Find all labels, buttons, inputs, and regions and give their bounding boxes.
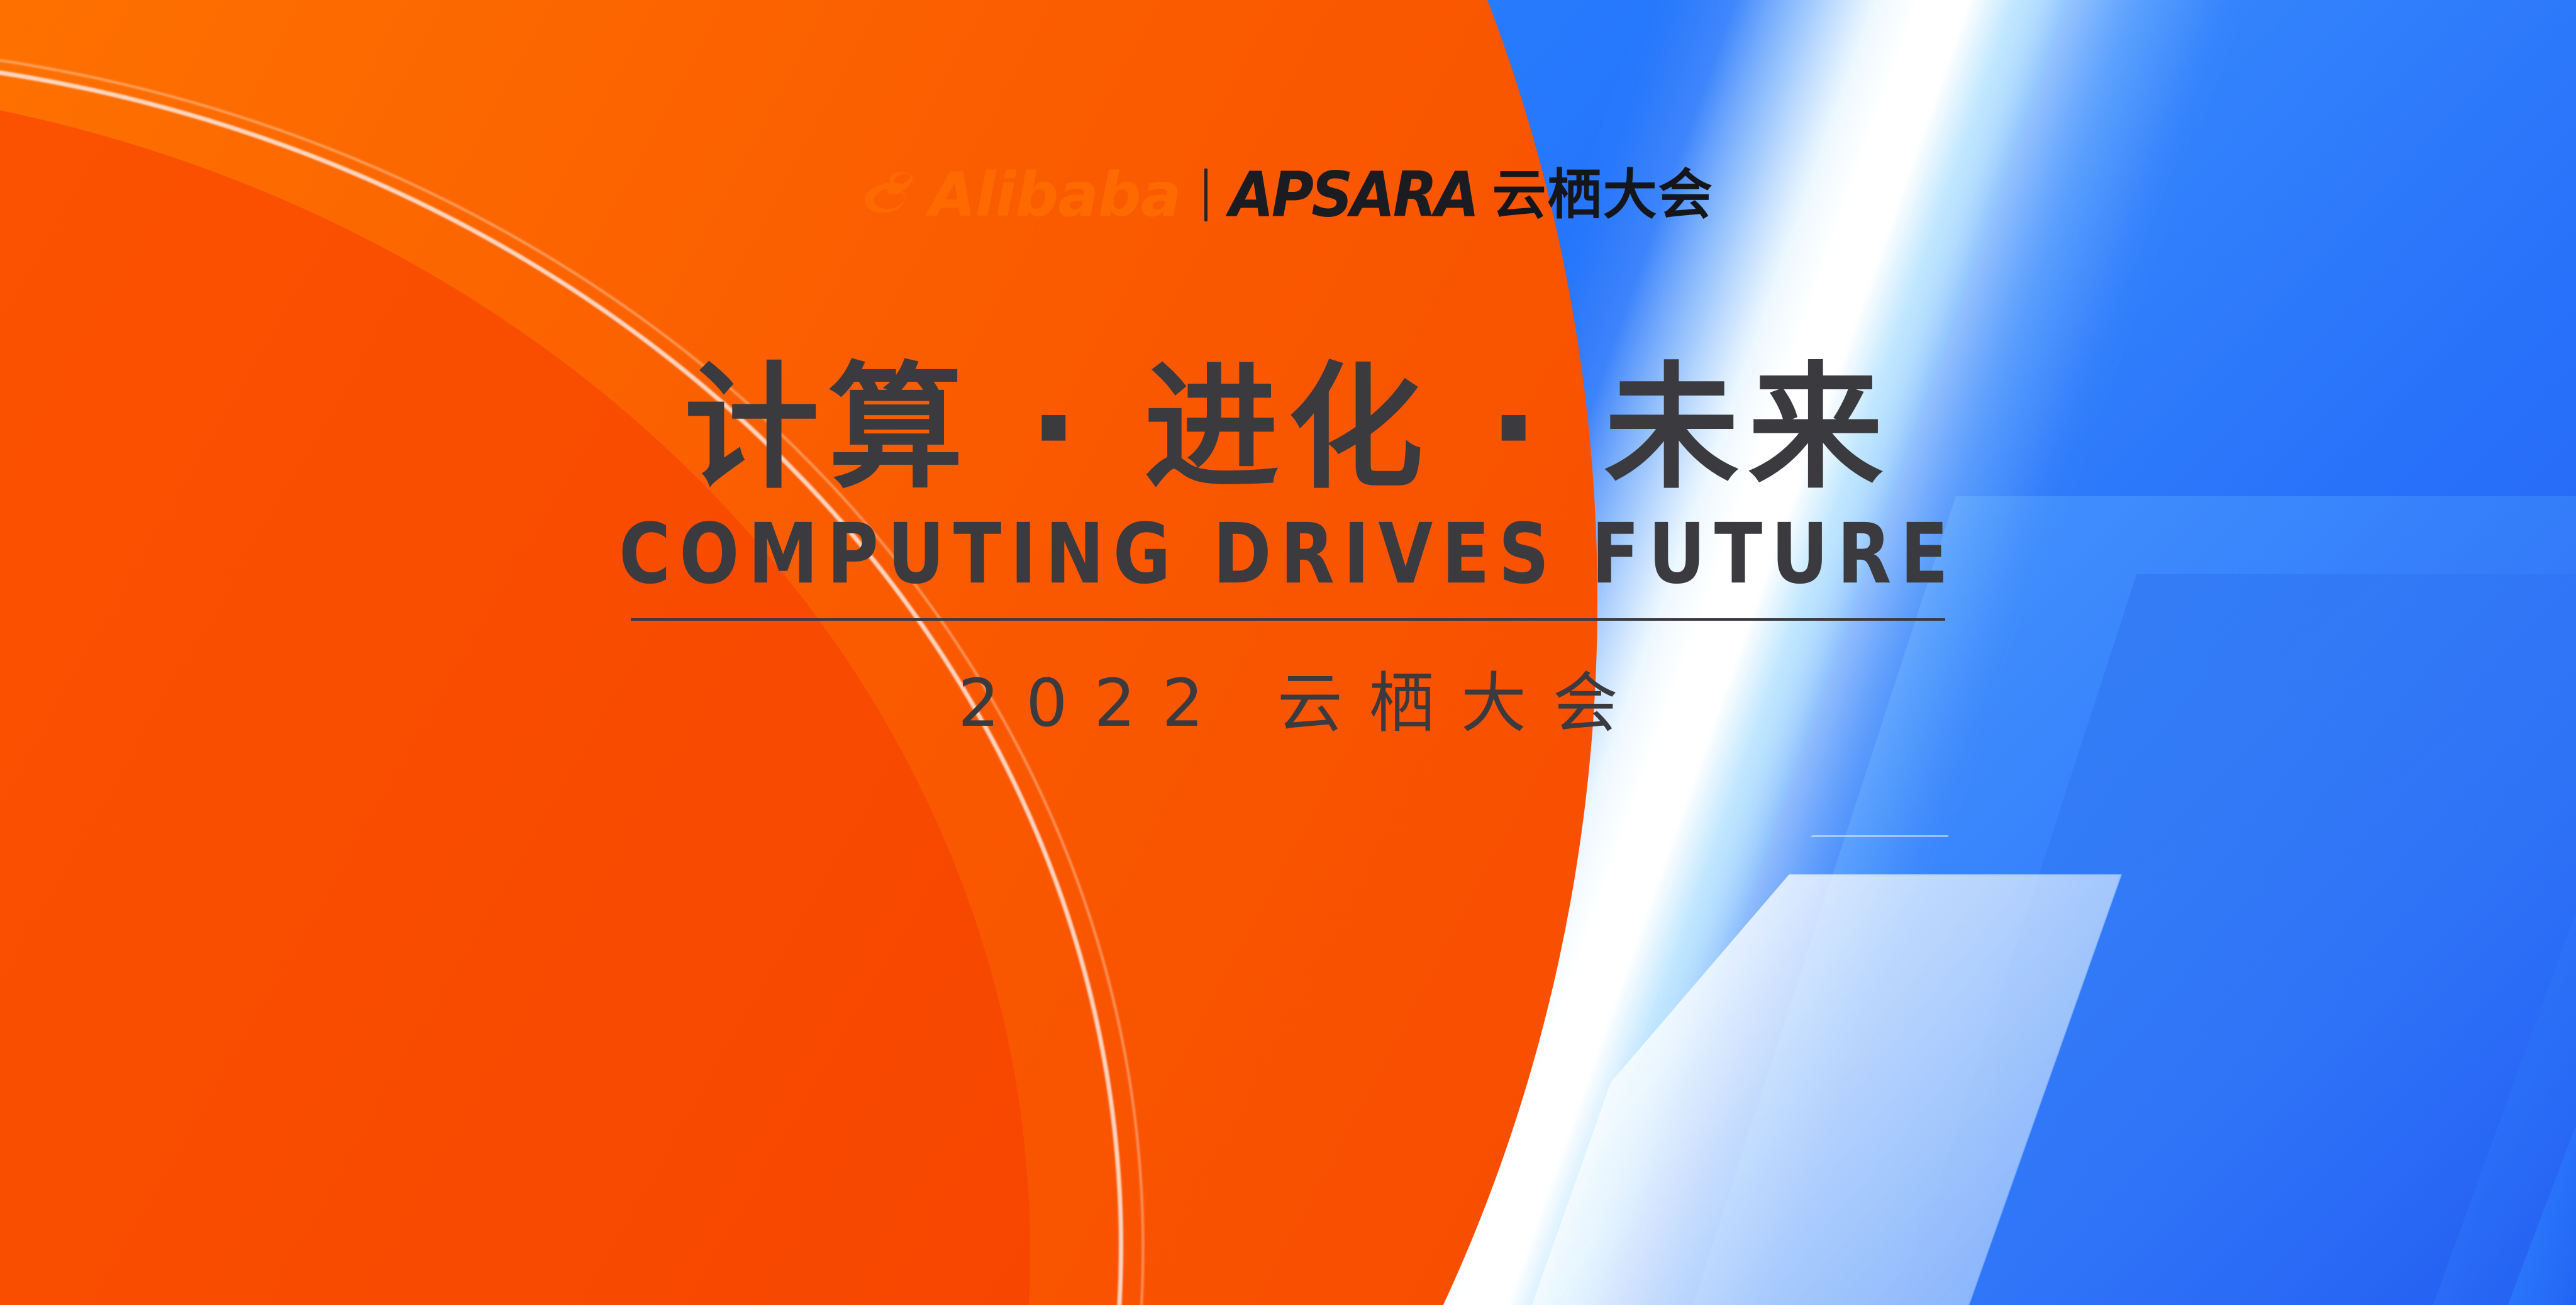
logo-divider-icon [1204,169,1207,221]
apsara-wordmark: APSARA [1229,164,1477,226]
alibaba-wordmark: Alibaba [929,165,1180,225]
poster-canvas: Alibaba APSARA 云栖大会 计算 · 进化 · 未来 COMPUTI… [0,0,2576,1305]
headline-title-en: COMPUTING DRIVES FUTURE [619,511,1957,599]
apsara-wordmark-cn: 云栖大会 [1492,168,1714,222]
poster-content: Alibaba APSARA 云栖大会 计算 · 进化 · 未来 COMPUTI… [0,0,2576,1305]
alibaba-smiley-mark-icon [862,166,920,224]
headline-title-cn: 计算 · 进化 · 未来 [684,355,1892,501]
brand-lockup: Alibaba APSARA 云栖大会 [862,160,1713,230]
headline-divider [631,618,1945,621]
headline-footer-line: 2022 云栖大会 [931,650,1645,745]
headline-block: 计算 · 进化 · 未来 COMPUTING DRIVES FUTURE 202… [615,355,1961,745]
